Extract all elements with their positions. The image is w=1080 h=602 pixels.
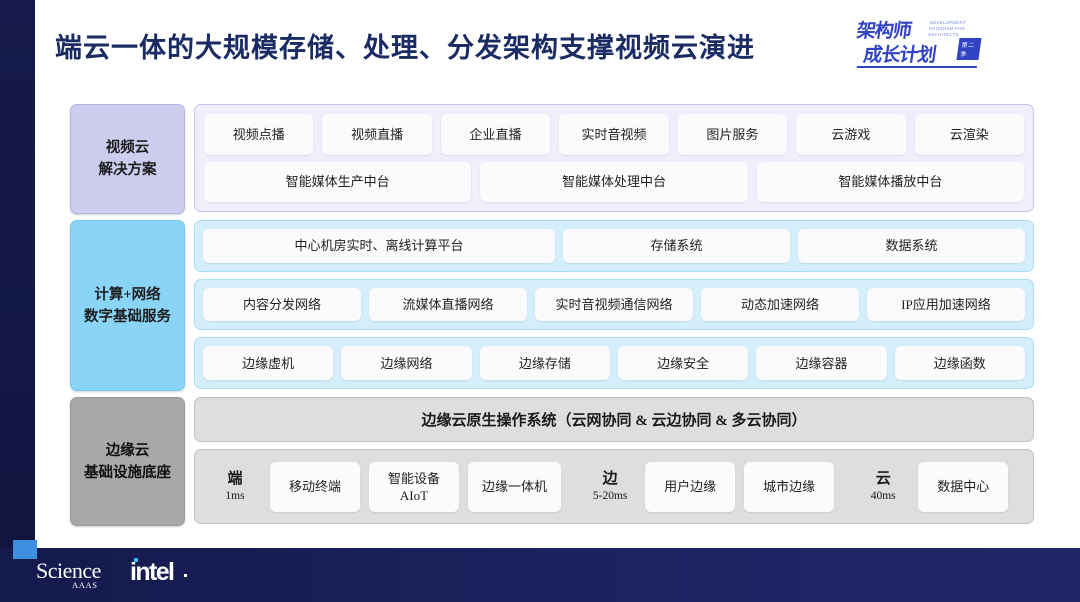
tier-label-cloud: 云 40ms	[857, 470, 909, 504]
chip-city-edge[interactable]: 城市边缘	[744, 462, 834, 512]
chip-cdn[interactable]: 内容分发网络	[203, 288, 361, 322]
side-label-line2: 解决方案	[99, 159, 157, 181]
panel-video-cloud-solutions: 视频点播 视频直播 企业直播 实时音视频 图片服务 云游戏 云渲染 智能媒体生产…	[194, 104, 1034, 212]
band-video-cloud-solutions: 视频云 解决方案 视频点播 视频直播 企业直播 实时音视频 图片服务 云游戏 云…	[70, 104, 1034, 212]
footer-accent-square	[13, 540, 37, 559]
side-label-line1: 视频云	[99, 137, 157, 159]
tier-latency-edge: 5-20ms	[584, 489, 636, 504]
chip-edge-all-in-one[interactable]: 边缘一体机	[468, 462, 561, 512]
row-media-midplatforms: 智能媒体生产中台 智能媒体处理中台 智能媒体播放中台	[204, 162, 1024, 203]
chip-enterprise-live[interactable]: 企业直播	[441, 114, 550, 155]
intel-logo-dot-icon	[134, 558, 138, 562]
brand-logo-badge: 第二季	[956, 38, 981, 60]
chip-media-production-platform[interactable]: 智能媒体生产中台	[204, 162, 471, 203]
chip-edge-vm[interactable]: 边缘虚机	[203, 346, 333, 380]
chip-rtc-network[interactable]: 实时音视频通信网络	[535, 288, 693, 322]
chip-media-playback-platform[interactable]: 智能媒体播放中台	[757, 162, 1024, 203]
brand-logo-line2: 成长计划	[852, 44, 937, 68]
chip-dynamic-acceleration-network[interactable]: 动态加速网络	[701, 288, 859, 322]
chip-realtime-av[interactable]: 实时音视频	[559, 114, 668, 155]
side-label-line1: 边缘云	[84, 440, 171, 462]
side-label-video-cloud-solutions: 视频云 解决方案	[70, 104, 185, 214]
band-edge-cloud-infrastructure: 边缘云 基础设施底座 边缘云原生操作系统（云网协同 & 云边协同 & 多云协同）…	[70, 397, 1034, 524]
chip-video-live[interactable]: 视频直播	[322, 114, 431, 155]
chip-user-edge[interactable]: 用户边缘	[645, 462, 735, 512]
group-network-services: 内容分发网络 流媒体直播网络 实时音视频通信网络 动态加速网络 IP应用加速网络	[194, 279, 1034, 331]
band-compute-network: 计算+网络 数字基础服务 中心机房实时、离线计算平台 存储系统 数据系统 内容分…	[70, 220, 1034, 389]
chip-streaming-live-network[interactable]: 流媒体直播网络	[369, 288, 527, 322]
tier-label-edge: 边 5-20ms	[584, 470, 636, 504]
chip-edge-security[interactable]: 边缘安全	[618, 346, 748, 380]
chip-media-processing-platform[interactable]: 智能媒体处理中台	[480, 162, 747, 203]
chip-central-compute-platform[interactable]: 中心机房实时、离线计算平台	[203, 229, 555, 263]
tier-name-device: 端	[209, 470, 261, 489]
chip-edge-storage[interactable]: 边缘存储	[480, 346, 610, 380]
brand-logo: 架构师 成长计划 DEVELOPMENT PROGRAM FOR ARCHITE…	[855, 18, 980, 74]
tier-name-cloud: 云	[857, 470, 909, 489]
chip-smart-device-aiot[interactable]: 智能设备AIoT	[369, 462, 459, 512]
side-label-line1: 计算+网络	[84, 284, 171, 306]
edge-native-os-bar[interactable]: 边缘云原生操作系统（云网协同 & 云边协同 & 多云协同）	[194, 397, 1034, 442]
chip-edge-network[interactable]: 边缘网络	[341, 346, 471, 380]
brand-logo-english: DEVELOPMENT PROGRAM FOR ARCHITECTS	[928, 20, 982, 38]
side-label-compute-network: 计算+网络 数字基础服务	[70, 220, 185, 391]
tier-latency-cloud: 40ms	[857, 489, 909, 504]
group-video-cloud-solutions: 视频点播 视频直播 企业直播 实时音视频 图片服务 云游戏 云渲染 智能媒体生产…	[194, 104, 1034, 212]
chip-video-on-demand[interactable]: 视频点播	[204, 114, 313, 155]
brand-logo-chinese: 架构师 成长计划	[852, 20, 941, 68]
group-central-platforms: 中心机房实时、离线计算平台 存储系统 数据系统	[194, 220, 1034, 272]
chip-data-system[interactable]: 数据系统	[798, 229, 1025, 263]
row-solution-products: 视频点播 视频直播 企业直播 实时音视频 图片服务 云游戏 云渲染	[204, 114, 1024, 155]
chip-storage-system[interactable]: 存储系统	[563, 229, 790, 263]
intel-logo: intel	[130, 559, 173, 585]
side-label-line2: 数字基础服务	[84, 306, 171, 328]
tier-latency-device: 1ms	[209, 489, 261, 504]
chip-mobile-terminal[interactable]: 移动终端	[270, 462, 360, 512]
panel-compute-network: 中心机房实时、离线计算平台 存储系统 数据系统 内容分发网络 流媒体直播网络 实…	[194, 220, 1034, 389]
panel-edge-cloud-infrastructure: 边缘云原生操作系统（云网协同 & 云边协同 & 多云协同） 端 1ms 移动终端…	[194, 397, 1034, 524]
side-label-edge-cloud-infrastructure: 边缘云 基础设施底座	[70, 397, 185, 526]
chip-cloud-gaming[interactable]: 云游戏	[796, 114, 905, 155]
science-aaas-label: AAAS	[72, 580, 98, 590]
brand-logo-line1: 架构师	[855, 21, 912, 42]
page-title: 端云一体的大规模存储、处理、分发架构支撑视频云演进	[55, 26, 755, 65]
slide-canvas: 端云一体的大规模存储、处理、分发架构支撑视频云演进 架构师 成长计划 DEVEL…	[0, 0, 1080, 602]
chip-ip-acceleration-network[interactable]: IP应用加速网络	[867, 288, 1025, 322]
chip-data-center[interactable]: 数据中心	[918, 462, 1008, 512]
left-accent-rail	[0, 0, 35, 602]
side-label-line2: 基础设施底座	[84, 462, 171, 484]
science-logo: Science	[36, 560, 101, 582]
chip-edge-function[interactable]: 边缘函数	[895, 346, 1025, 380]
intel-logo-period-icon	[184, 574, 187, 577]
tier-name-edge: 边	[584, 470, 636, 489]
chip-cloud-rendering[interactable]: 云渲染	[915, 114, 1024, 155]
group-edge-services: 边缘虚机 边缘网络 边缘存储 边缘安全 边缘容器 边缘函数	[194, 337, 1034, 389]
chip-edge-container[interactable]: 边缘容器	[756, 346, 886, 380]
tier-label-device: 端 1ms	[209, 470, 261, 504]
latency-tier-bar: 端 1ms 移动终端 智能设备AIoT 边缘一体机 边 5-20ms 用户边缘 …	[194, 449, 1034, 524]
chip-image-service[interactable]: 图片服务	[678, 114, 787, 155]
brand-logo-underline	[857, 66, 978, 68]
